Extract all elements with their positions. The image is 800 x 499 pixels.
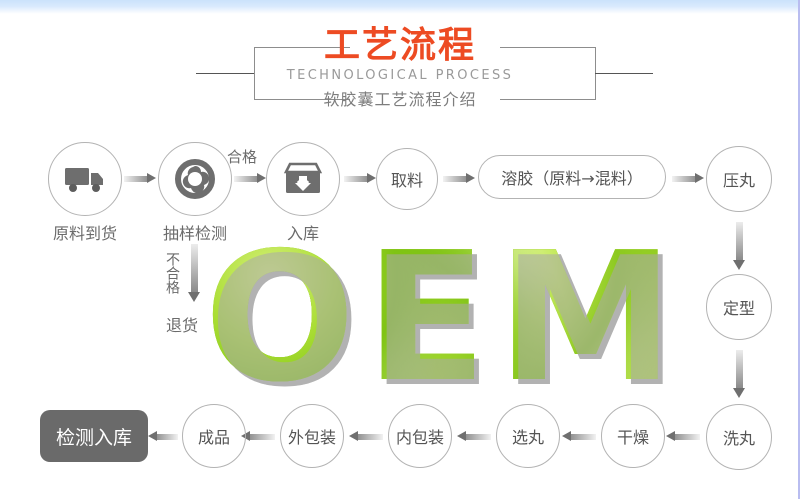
arrow-take-to-solgel <box>443 173 475 184</box>
label-take-material: 取料 <box>391 167 423 191</box>
arrow-sampling-to-warehouse <box>234 173 266 184</box>
label-finished-product: 成品 <box>198 424 230 448</box>
label-sampling: 抽样检测 <box>143 220 247 244</box>
arrow-wash-to-drying <box>666 431 700 442</box>
node-warehouse-in[interactable] <box>266 142 340 216</box>
page-title: 工艺流程 <box>0 26 800 66</box>
label-warehouse-in: 入库 <box>251 220 355 244</box>
node-inspect-stock-in[interactable]: 检测入库 <box>40 410 148 462</box>
truck-icon <box>63 157 107 201</box>
node-take-material[interactable]: 取料 <box>376 148 438 210</box>
arrow-press-to-shaping <box>733 222 746 270</box>
label-drying: 干燥 <box>617 424 649 448</box>
arrow-warehouse-to-take <box>344 173 376 184</box>
label-press-pill: 压丸 <box>723 167 755 191</box>
label-sol-gel: 溶胶（原料→混料） <box>501 165 642 189</box>
node-finished-product[interactable]: 成品 <box>182 404 246 468</box>
node-sampling[interactable] <box>158 142 232 216</box>
node-drying[interactable]: 干燥 <box>601 404 665 468</box>
oem-watermark: OEM <box>204 232 674 404</box>
node-select-pill[interactable]: 选丸 <box>496 404 560 468</box>
arrow-shaping-to-wash <box>733 350 746 398</box>
node-sol-gel[interactable]: 溶胶（原料→混料） <box>478 155 666 199</box>
label-inspect-stock-in: 检测入库 <box>56 423 132 450</box>
arrow-outer-to-finished <box>241 431 275 442</box>
arrow-drying-to-select <box>562 431 596 442</box>
node-inner-packaging[interactable]: 内包装 <box>388 404 452 468</box>
arrow-raw-to-sampling <box>124 173 156 184</box>
arrow-sampling-to-reject <box>188 244 201 304</box>
process-flow-infographic: 工艺流程 TECHNOLOGICAL PROCESS 软胶囊工艺流程介绍 OEM… <box>0 0 800 499</box>
branch-label-fail: 不合格 <box>162 252 182 294</box>
arrow-inner-to-outer <box>349 431 383 442</box>
node-reject: 退货 <box>166 312 198 336</box>
inbox-down-arrow-icon <box>281 157 325 201</box>
label-shaping: 定型 <box>723 295 755 319</box>
label-inner-packaging: 内包装 <box>396 424 444 448</box>
arrow-solgel-to-press <box>672 173 704 184</box>
page-description: 软胶囊工艺流程介绍 <box>0 90 800 110</box>
node-raw-arrival[interactable] <box>48 142 122 216</box>
label-raw-arrival: 原料到货 <box>33 220 137 244</box>
top-gradient-band <box>0 0 800 14</box>
page-subtitle: TECHNOLOGICAL PROCESS <box>0 68 800 84</box>
header: 工艺流程 TECHNOLOGICAL PROCESS 软胶囊工艺流程介绍 <box>0 14 800 114</box>
arrow-select-to-inner <box>457 431 491 442</box>
node-outer-packaging[interactable]: 外包装 <box>280 404 344 468</box>
label-outer-packaging: 外包装 <box>288 424 336 448</box>
node-wash-pill[interactable]: 洗丸 <box>706 404 772 470</box>
edge-label-pass: 合格 <box>227 146 257 167</box>
sampling-inspection-icon <box>173 157 217 201</box>
node-shaping[interactable]: 定型 <box>706 274 772 340</box>
label-select-pill: 选丸 <box>512 424 544 448</box>
label-wash-pill: 洗丸 <box>723 425 755 449</box>
arrow-finished-to-inspect <box>148 431 178 442</box>
node-press-pill[interactable]: 压丸 <box>706 146 772 212</box>
